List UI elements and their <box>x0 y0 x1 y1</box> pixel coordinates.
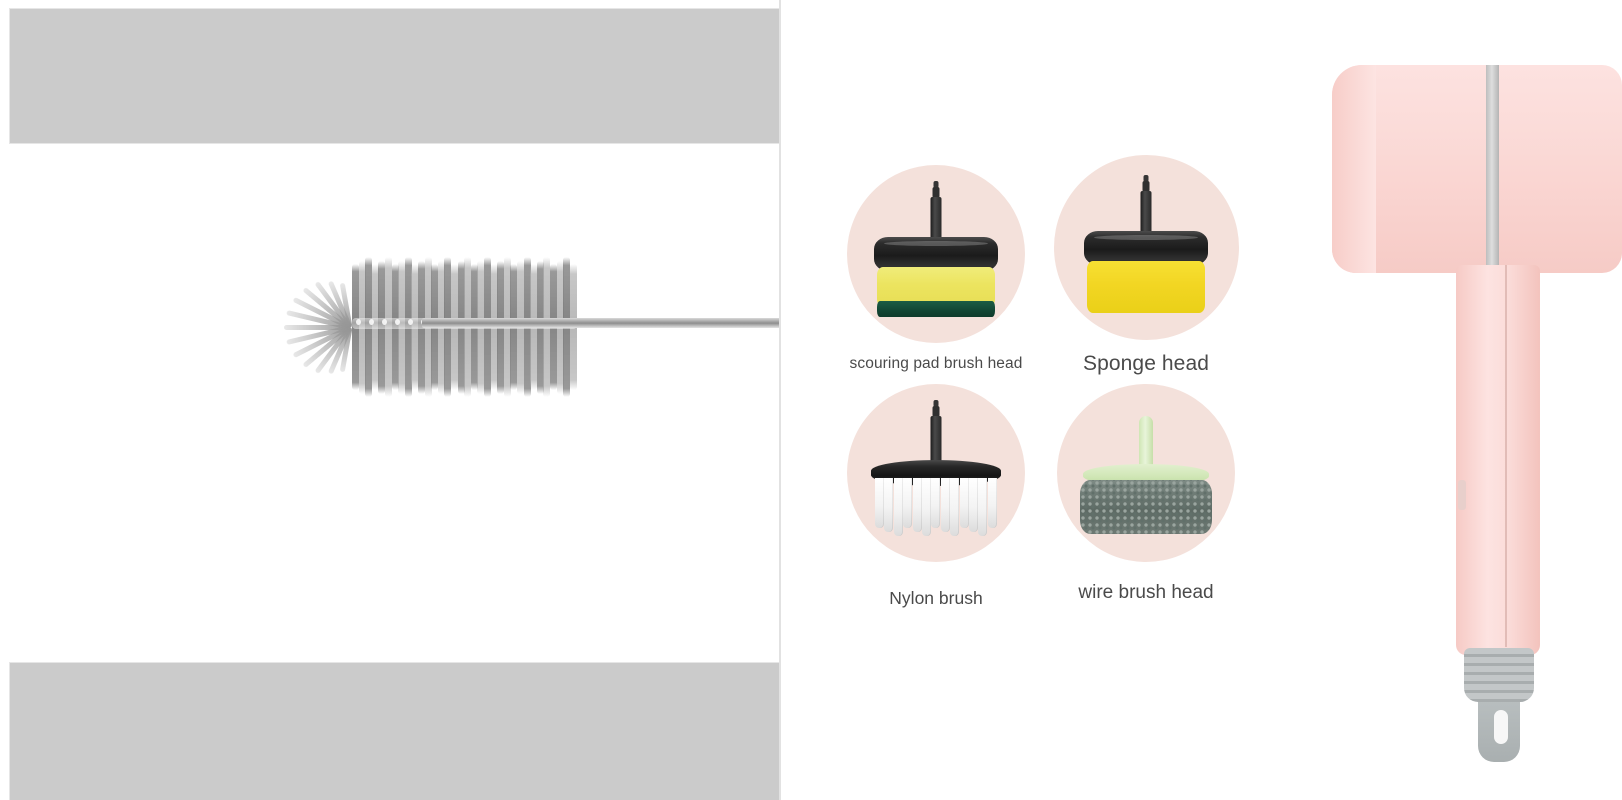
attachment-heads-row-2: Nylon brush wire brush head <box>831 384 1251 609</box>
core-highlight-dot <box>369 319 374 325</box>
nylon-bristle <box>913 478 922 532</box>
device-power-button[interactable] <box>1458 480 1466 510</box>
nylon-bristle <box>988 478 997 528</box>
core-highlight-dot <box>356 319 361 325</box>
head-cap <box>874 237 998 271</box>
scouring-pad-brush-head-icon <box>861 179 1011 329</box>
sponge-head-icon <box>1071 173 1221 323</box>
attachment-head-scouring-pad-brush-head[interactable]: scouring pad brush head <box>831 155 1041 376</box>
nylon-bristle <box>931 478 940 528</box>
nylon-brush-disc <box>847 384 1025 562</box>
nylon-bristle <box>978 478 987 536</box>
scouring-pad-layer <box>877 301 995 317</box>
product-image-bottle-brush <box>0 0 781 800</box>
attachment-head-label: Nylon brush <box>889 588 982 609</box>
attachment-heads-panel: scouring pad brush head Sponge head <box>781 0 1622 800</box>
stem-shaft <box>931 416 942 462</box>
device-cord-protector <box>1464 648 1534 702</box>
nylon-bristle <box>903 478 912 528</box>
head-cap <box>1084 231 1208 265</box>
core-highlight-dot <box>382 319 387 325</box>
attachment-heads-row-1: scouring pad brush head Sponge head <box>831 155 1251 376</box>
wire-brush-head-disc <box>1057 384 1235 562</box>
attachment-head-nylon-brush[interactable]: Nylon brush <box>831 384 1041 609</box>
long-handle-bottle-brush <box>140 255 740 400</box>
brush-shaft <box>422 318 781 328</box>
nylon-bristle <box>941 478 950 532</box>
attachment-heads-grid: scouring pad brush head Sponge head <box>831 155 1251 609</box>
device-accent-band <box>1486 65 1499 273</box>
sponge-layer <box>1087 261 1205 313</box>
attachment-head-label: scouring pad brush head <box>850 355 1023 373</box>
nylon-bristle <box>950 478 959 536</box>
nylon-bristle <box>894 478 903 536</box>
nylon-bristle <box>960 478 969 528</box>
device-motor-body <box>1332 65 1622 273</box>
bottom-placeholder-band <box>10 663 779 800</box>
steel-wire-mesh <box>1080 480 1212 534</box>
device-loop-hole <box>1494 710 1508 744</box>
nylon-bristle <box>922 478 931 536</box>
nylon-bristle <box>875 478 884 528</box>
stem-shaft <box>1139 416 1153 470</box>
device-seam-line <box>1505 265 1507 647</box>
wire-brush-head-icon <box>1071 398 1221 548</box>
attachment-head-label: wire brush head <box>1078 582 1213 604</box>
nylon-bristle <box>969 478 978 532</box>
pink-electric-cleaning-brush-handle <box>1322 60 1622 700</box>
device-handle <box>1456 265 1540 655</box>
core-highlight-dot <box>408 319 413 325</box>
top-placeholder-band <box>10 9 779 143</box>
nylon-bristle <box>884 478 893 532</box>
attachment-head-sponge-head[interactable]: Sponge head <box>1041 155 1251 376</box>
sponge-head-disc <box>1054 155 1239 340</box>
attachment-head-label: Sponge head <box>1083 352 1209 376</box>
nylon-bristles <box>875 478 997 536</box>
scouring-pad-brush-head-disc <box>847 165 1025 343</box>
nylon-brush-icon <box>861 398 1011 548</box>
screenshot-stage: scouring pad brush head Sponge head <box>0 0 1622 800</box>
core-highlight-dot <box>395 319 400 325</box>
attachment-head-wire-brush-head[interactable]: wire brush head <box>1041 384 1251 609</box>
